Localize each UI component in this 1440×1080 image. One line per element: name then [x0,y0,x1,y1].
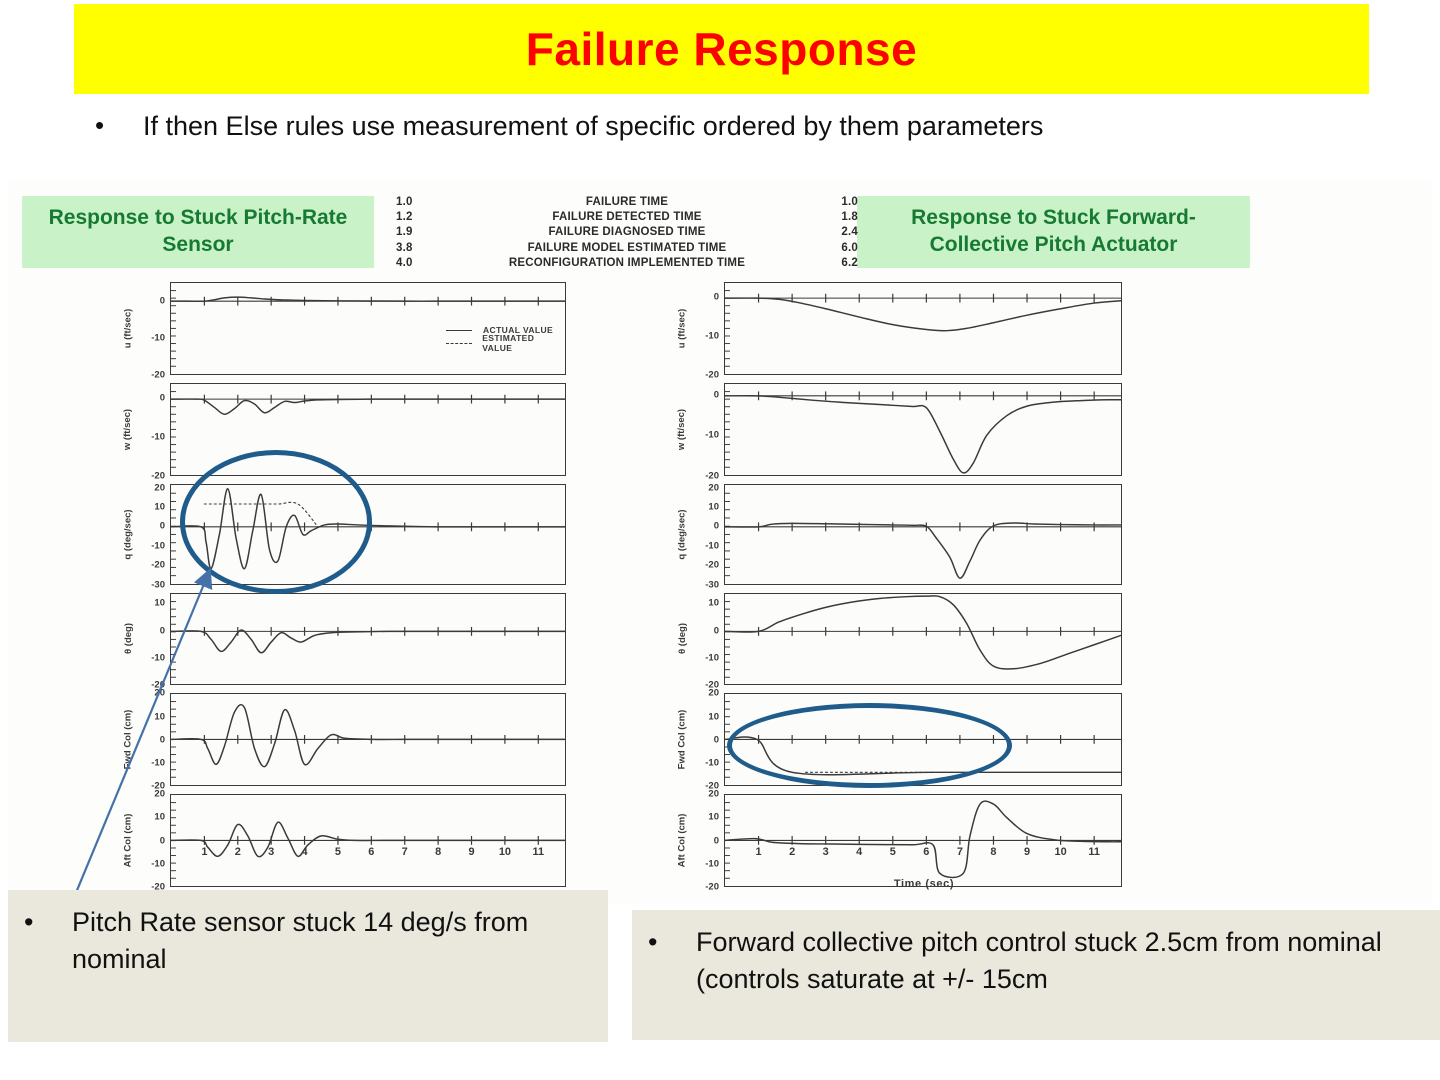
top-bullet: • If then Else rules use measurement of … [95,108,1405,144]
y-axis-label: q (deg/sec) [672,484,692,585]
y-axis-ticks: 0-10-20 [138,383,168,476]
svg-text:7: 7 [402,846,408,858]
chart-panel: u (ft/sec)0-10-20 [672,282,1122,375]
y-tick-label: 10 [154,711,165,722]
y-tick-label: 0 [160,393,165,404]
failure-time-row: 1.0FAILURE TIME1.0 [396,194,858,209]
y-tick-label: -10 [151,540,165,551]
y-tick-label: 20 [708,688,719,699]
chart-panel: θ (deg)100-10-20 [118,593,566,686]
plot-area [170,383,566,476]
y-tick-label: 0 [160,734,165,745]
caption-left-text: Pitch Rate sensor stuck 14 deg/s from no… [72,904,598,977]
failure-time-label: FAILURE TIME [448,196,806,208]
chart-right-panels: u (ft/sec)0-10-20w (ft/sec)0-10-20q (deg… [672,282,1122,887]
y-tick-label: -30 [151,579,165,590]
y-tick-label: 10 [154,501,165,512]
chart-panel: q (deg/sec)20100-10-20-30 [118,484,566,585]
failure-time-row: 1.9FAILURE DIAGNOSED TIME2.4 [396,225,858,240]
slide-canvas: Failure Response • If then Else rules us… [0,0,1440,1080]
failure-time-row: 3.8FAILURE MODEL ESTIMATED TIME6.0 [396,240,858,255]
y-axis-label: Aft Col (cm) [118,794,138,887]
failure-time-label: FAILURE MODEL ESTIMATED TIME [448,242,806,254]
y-tick-label: -10 [151,431,165,442]
y-tick-label: 0 [714,835,719,846]
chart-legend: ACTUAL VALUEESTIMATED VALUE [446,323,565,349]
y-tick-label: 20 [154,482,165,493]
svg-text:11: 11 [533,846,545,858]
caption-box-left: • Pitch Rate sensor stuck 14 deg/s from … [8,890,608,1042]
y-tick-label: -20 [705,881,719,892]
y-tick-label: 0 [714,292,719,303]
y-axis-ticks: 0-10-20 [692,383,722,476]
chart-panel: u (ft/sec)0-10-20ACTUAL VALUEESTIMATED V… [118,282,566,375]
failure-time-right-value: 6.0 [806,242,858,254]
svg-text:2: 2 [235,846,241,858]
plot-area [724,693,1122,786]
y-axis-ticks: 20100-10-20 [138,794,168,887]
plot-area [724,484,1122,585]
plot-area [170,593,566,686]
bullet-marker-icon: • [648,924,696,961]
failure-time-table: 1.0FAILURE TIME1.01.2FAILURE DETECTED TI… [396,194,858,271]
plot-area: ACTUAL VALUEESTIMATED VALUE [170,282,566,375]
svg-text:9: 9 [1024,846,1030,858]
svg-text:10: 10 [499,846,511,858]
svg-text:9: 9 [468,846,474,858]
y-tick-label: -10 [705,757,719,768]
legend-item-estimated: ESTIMATED VALUE [446,336,565,349]
y-axis-ticks: 100-10-20 [138,593,168,686]
y-tick-label: -10 [151,332,165,343]
failure-time-right-value: 2.4 [806,226,858,238]
y-tick-label: 20 [154,789,165,800]
y-axis-ticks: 100-10-20 [692,593,722,686]
y-tick-label: -10 [705,430,719,441]
bullet-marker-icon: • [95,108,143,143]
svg-text:4: 4 [856,846,862,858]
svg-text:3: 3 [268,846,274,858]
y-axis-label: q (deg/sec) [118,484,138,585]
chart-panel: θ (deg)100-10-20 [672,593,1122,686]
legend-label-estimated: ESTIMATED VALUE [482,333,565,353]
plot-area: 1234567891011 [170,794,566,887]
chart-panel: w (ft/sec)0-10-20 [118,383,566,476]
y-axis-label: θ (deg) [118,593,138,686]
svg-text:5: 5 [890,846,896,858]
plot-area: 1234567891011 [724,794,1122,887]
y-axis-ticks: 20100-10-20 [138,693,168,786]
y-tick-label: 20 [708,482,719,493]
y-tick-label: -10 [705,540,719,551]
y-tick-label: -30 [705,579,719,590]
plot-area [170,693,566,786]
failure-time-right-value: 6.2 [806,257,858,269]
failure-time-label: RECONFIGURATION IMPLEMENTED TIME [448,257,806,269]
caption-box-right: • Forward collective pitch control stuck… [632,910,1440,1040]
svg-text:6: 6 [368,846,374,858]
y-tick-label: 20 [154,688,165,699]
y-tick-label: 0 [714,625,719,636]
svg-text:1: 1 [201,846,207,858]
y-tick-label: -10 [705,331,719,342]
y-axis-label: w (ft/sec) [118,383,138,476]
y-tick-label: -10 [705,858,719,869]
svg-text:5: 5 [335,846,341,858]
plot-area [724,593,1122,686]
y-tick-label: 0 [714,389,719,400]
green-caption-left: Response to Stuck Pitch-Rate Sensor [22,196,374,268]
svg-text:7: 7 [957,846,963,858]
plot-area [170,484,566,585]
y-tick-label: -10 [151,858,165,869]
y-tick-label: -20 [151,470,165,481]
y-tick-label: -20 [705,369,719,380]
chart-panel: Fwd Col (cm)20100-10-20 [672,693,1122,786]
y-tick-label: 0 [160,295,165,306]
y-axis-label: Fwd Col (cm) [118,693,138,786]
svg-text:8: 8 [435,846,441,858]
y-tick-label: 10 [708,812,719,823]
y-axis-ticks: 20100-10-20 [692,693,722,786]
plot-area [724,383,1122,476]
svg-text:8: 8 [990,846,996,858]
y-axis-ticks: 20100-10-20-30 [692,484,722,585]
chart-panel: w (ft/sec)0-10-20 [672,383,1122,476]
y-tick-label: 10 [708,501,719,512]
svg-text:3: 3 [823,846,829,858]
chart-panel: q (deg/sec)20100-10-20-30 [672,484,1122,585]
svg-text:2: 2 [789,846,795,858]
y-tick-label: -10 [705,653,719,664]
y-tick-label: 0 [714,734,719,745]
failure-time-left-value: 1.0 [396,196,448,208]
failure-time-right-value: 1.8 [806,211,858,223]
y-tick-label: 0 [160,835,165,846]
svg-text:1: 1 [756,846,762,858]
x-axis-label-right: Time (sec) [724,878,1124,890]
y-axis-label: w (ft/sec) [672,383,692,476]
y-tick-label: 10 [708,598,719,609]
y-axis-label: u (ft/sec) [672,282,692,375]
svg-text:11: 11 [1088,846,1100,858]
caption-right-text: Forward collective pitch control stuck 2… [696,924,1430,997]
y-axis-label: Fwd Col (cm) [672,693,692,786]
title-banner: Failure Response [74,4,1369,94]
y-axis-ticks: 0-10-20 [692,282,722,375]
plot-area [724,282,1122,375]
y-axis-label: u (ft/sec) [118,282,138,375]
failure-time-left-value: 1.2 [396,211,448,223]
chart-left-panels: u (ft/sec)0-10-20ACTUAL VALUEESTIMATED V… [118,282,566,887]
svg-text:10: 10 [1055,846,1067,858]
y-tick-label: -20 [151,560,165,571]
svg-text:6: 6 [923,846,929,858]
failure-time-right-value: 1.0 [806,196,858,208]
page-title: Failure Response [526,26,917,72]
y-axis-ticks: 20100-10-20 [692,794,722,887]
y-tick-label: 10 [154,598,165,609]
chart-panel: Fwd Col (cm)20100-10-20 [118,693,566,786]
top-bullet-text: If then Else rules use measurement of sp… [143,108,1043,144]
failure-time-left-value: 4.0 [396,257,448,269]
failure-time-left-value: 3.8 [396,242,448,254]
y-tick-label: 0 [714,521,719,532]
y-tick-label: -20 [151,369,165,380]
y-tick-label: -20 [705,560,719,571]
failure-time-row: 1.2FAILURE DETECTED TIME1.8 [396,209,858,224]
legend-solid-line-icon [446,325,476,335]
y-axis-label: θ (deg) [672,593,692,686]
failure-time-left-value: 1.9 [396,226,448,238]
green-caption-right: Response to Stuck Forward-Collective Pit… [857,196,1250,268]
chart-panel: Aft Col (cm)20100-10-201234567891011 [118,794,566,887]
y-tick-label: 20 [708,789,719,800]
bullet-marker-icon: • [24,904,72,941]
chart-panel: Aft Col (cm)20100-10-201234567891011 [672,794,1122,887]
y-tick-label: 0 [160,521,165,532]
failure-time-label: FAILURE DIAGNOSED TIME [448,226,806,238]
y-axis-ticks: 20100-10-20-30 [138,484,168,585]
failure-time-row: 4.0RECONFIGURATION IMPLEMENTED TIME6.2 [396,256,858,271]
y-tick-label: -10 [151,653,165,664]
y-axis-label: Aft Col (cm) [672,794,692,887]
y-tick-label: 0 [160,625,165,636]
y-tick-label: -20 [705,470,719,481]
y-tick-label: 10 [154,812,165,823]
y-axis-ticks: 0-10-20 [138,282,168,375]
legend-dashed-line-icon [446,338,475,348]
failure-time-label: FAILURE DETECTED TIME [448,211,806,223]
y-tick-label: -10 [151,757,165,768]
y-tick-label: 10 [708,711,719,722]
